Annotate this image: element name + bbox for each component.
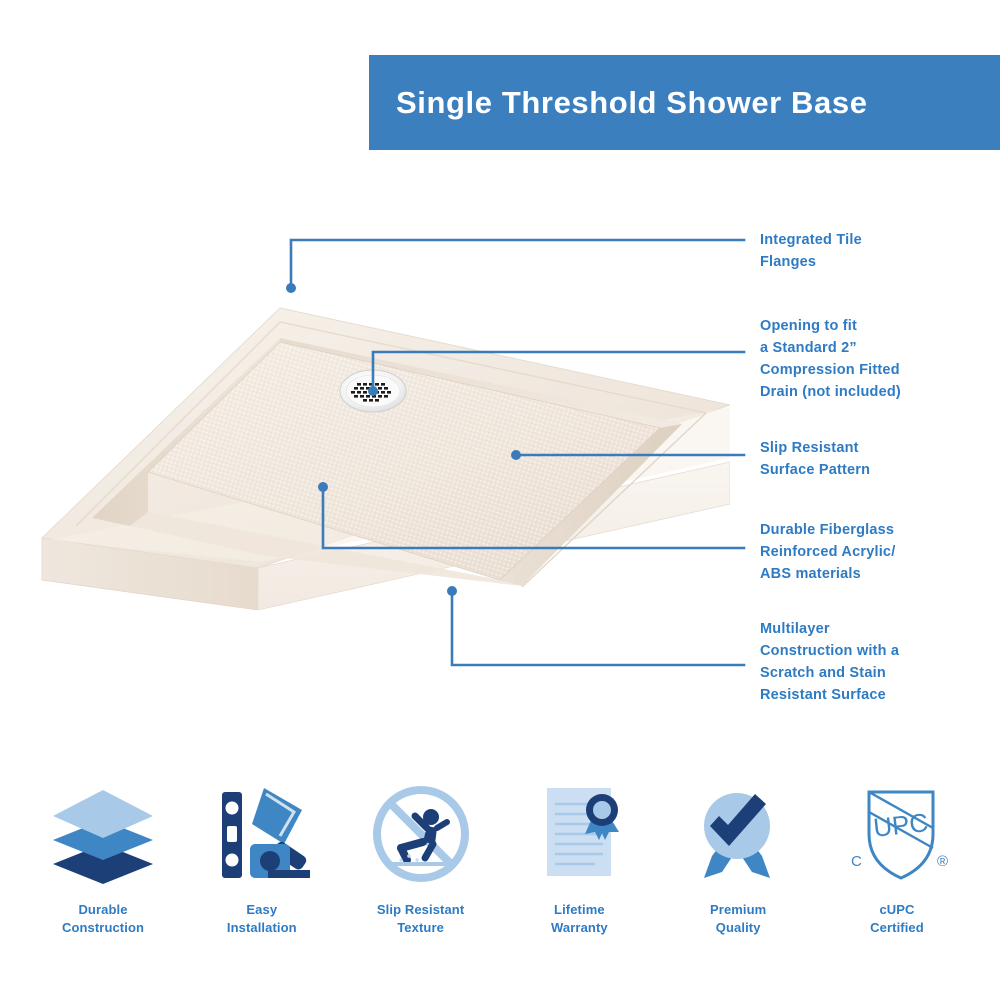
feature-cupc-certified[interactable]: UPC C ® cUPC Certified [822,775,972,938]
upc-left-mark: C [851,853,862,870]
feature-lifetime-warranty[interactable]: Lifetime Warranty [504,775,654,938]
callout-label-integrated-tile-flanges: Integrated Tile Flanges [760,229,862,273]
upc-right-mark: ® [937,853,948,870]
feature-label: Easy Installation [227,901,297,938]
check-rosette-icon [682,775,794,893]
product-image-shower-base [30,250,730,610]
feature-label: Lifetime Warranty [551,901,608,938]
feature-label: Slip Resistant Texture [377,901,464,938]
certificate-icon [523,775,635,893]
page-title: Single Threshold Shower Base [396,85,868,121]
feature-durable-construction[interactable]: Durable Construction [28,775,178,938]
callout-label-drain-opening: Opening to fit a Standard 2” Compression… [760,315,901,403]
feature-label: Durable Construction [62,901,144,938]
callout-label-durable-materials: Durable Fiberglass Reinforced Acrylic/ A… [760,519,895,585]
upc-shield-icon: UPC C ® [841,775,953,893]
callout-label-slip-resistant-surface: Slip Resistant Surface Pattern [760,437,870,481]
feature-slip-resistant[interactable]: Slip Resistant Texture [346,775,496,938]
feature-easy-installation[interactable]: Easy Installation [187,775,337,938]
feature-label: Premium Quality [710,901,766,938]
callout-label-multilayer-construction: Multilayer Construction with a Scratch a… [760,618,899,706]
level-trowel-icon [206,775,318,893]
layers-icon [47,775,159,893]
feature-label: cUPC Certified [870,901,924,938]
no-slip-icon [365,775,477,893]
drain-grate [340,370,406,412]
title-banner: Single Threshold Shower Base [369,55,1000,150]
feature-premium-quality[interactable]: Premium Quality [663,775,813,938]
feature-strip: Durable Construction Easy Installation [0,775,1000,975]
upc-shield-text: UPC [872,807,930,843]
